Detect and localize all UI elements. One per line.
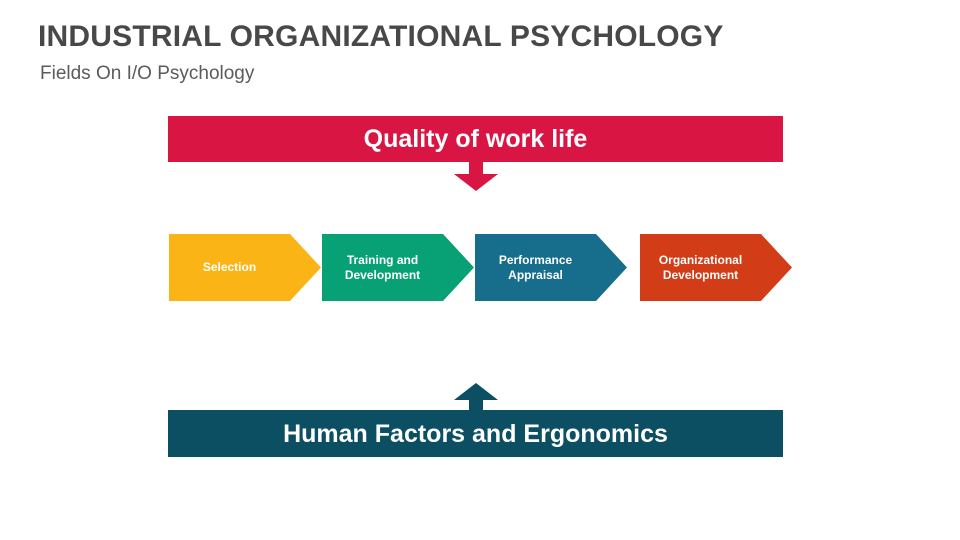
bottom-banner-group: Human Factors and Ergonomics	[168, 383, 783, 457]
down-arrow-icon	[454, 162, 498, 191]
up-arrow-icon	[454, 383, 498, 411]
process-step-training-and-development[interactable]: Training and Development	[322, 234, 474, 301]
top-banner-group: Quality of work life	[168, 116, 783, 191]
page-subtitle: Fields On I/O Psychology	[40, 61, 920, 87]
page-title: INDUSTRIAL ORGANIZATIONAL PSYCHOLOGY	[38, 18, 918, 56]
process-step-selection[interactable]: Selection	[169, 234, 321, 301]
bottom-banner-label: Human Factors and Ergonomics	[283, 419, 668, 449]
process-step-organizational-development[interactable]: Organizational Development	[640, 234, 792, 301]
process-chevron-row: Selection Training and Development Perfo…	[169, 234, 793, 301]
slide-canvas: INDUSTRIAL ORGANIZATIONAL PSYCHOLOGY Fie…	[0, 0, 960, 540]
top-banner-label: Quality of work life	[364, 124, 588, 154]
process-step-performance-appraisal[interactable]: Performance Appraisal	[475, 234, 627, 301]
top-banner[interactable]: Quality of work life	[168, 116, 783, 162]
bottom-banner[interactable]: Human Factors and Ergonomics	[168, 410, 783, 457]
